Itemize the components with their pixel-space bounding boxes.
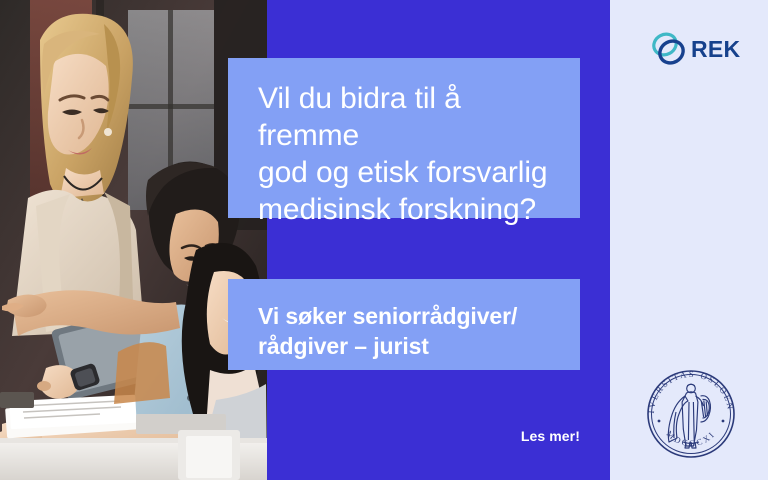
headline-box: Vil du bidra til å fremme god og etisk f… xyxy=(228,58,580,218)
headline-text: Vil du bidra til å fremme god og etisk f… xyxy=(258,80,552,228)
subheadline-box: Vi søker seniorrådgiver/ rådgiver – juri… xyxy=(228,279,580,370)
team-photo xyxy=(0,0,267,480)
team-photo-illustration xyxy=(0,0,267,480)
rek-logo[interactable]: REK xyxy=(650,28,740,70)
read-more-link[interactable]: Les mer! xyxy=(462,428,580,444)
interlocking-rings-icon xyxy=(650,29,690,69)
recruitment-banner: Vil du bidra til å fremme god og etisk f… xyxy=(0,0,768,480)
rek-wordmark: REK xyxy=(691,36,740,63)
uio-seal-graphic: UNIVERSITAS OSLOENSIS MDCCCXI xyxy=(640,363,742,465)
university-of-oslo-seal: UNIVERSITAS OSLOENSIS MDCCCXI xyxy=(640,363,742,465)
subheadline-text: Vi søker seniorrådgiver/ rådgiver – juri… xyxy=(258,301,552,361)
